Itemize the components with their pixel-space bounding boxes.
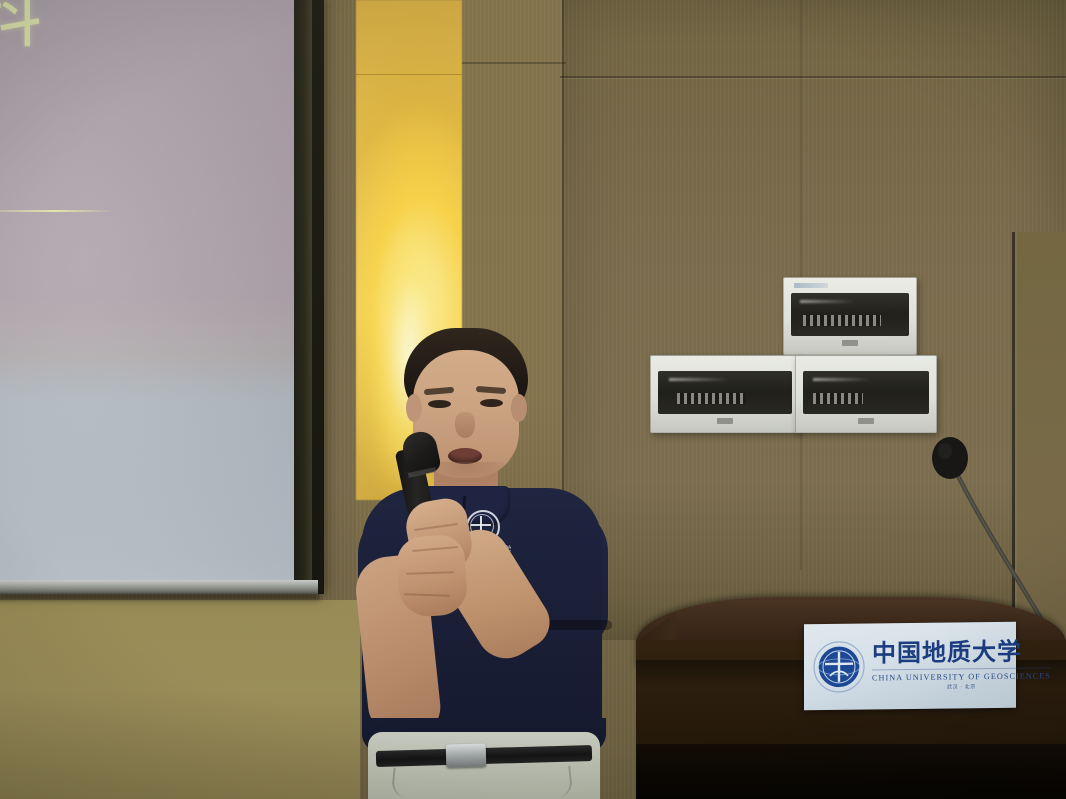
university-name-english: CHINA UNIVERSITY OF GEOSCIENCES xyxy=(872,671,1051,682)
eye-right xyxy=(480,399,503,407)
panel-glare xyxy=(669,378,731,381)
panel-latch xyxy=(858,418,874,424)
emblem-svg xyxy=(812,640,866,695)
ear-right xyxy=(511,394,527,422)
university-emblem-icon xyxy=(812,640,866,695)
eye-left xyxy=(428,400,451,408)
electrical-panel-bottom-right xyxy=(795,355,937,433)
circuit-breakers xyxy=(677,393,747,404)
lectern-base xyxy=(636,744,1066,799)
ear-left xyxy=(406,394,422,422)
panel-latch xyxy=(842,340,858,346)
trouser-pocket-right xyxy=(521,765,574,799)
presenter: 中国地质大学 xyxy=(300,320,630,799)
electrical-panel-top-right xyxy=(783,277,917,355)
circuit-breakers xyxy=(813,393,863,404)
glow-panel-seam xyxy=(356,74,462,75)
panel-glare xyxy=(800,300,854,303)
lecture-hall-photo: 料 xyxy=(0,0,1066,799)
panel-glare xyxy=(813,378,871,381)
electrical-panel-bottom-left xyxy=(650,355,800,433)
slide-underline xyxy=(0,210,114,212)
university-sign: 中国地质大学 CHINA UNIVERSITY OF GEOSCIENCES 武… xyxy=(804,622,1016,711)
belt-buckle xyxy=(446,743,487,767)
nose xyxy=(455,412,475,438)
screen-bottom-shadow xyxy=(0,594,320,600)
screen-vignette xyxy=(0,0,294,580)
panel-window xyxy=(791,293,909,336)
slide-character: 料 xyxy=(0,0,42,52)
screen-bottom-bar xyxy=(0,580,318,594)
circuit-breakers xyxy=(803,315,881,326)
panel-window xyxy=(658,371,792,414)
panel-window xyxy=(803,371,929,414)
university-sign-text: 中国地质大学 CHINA UNIVERSITY OF GEOSCIENCES 武… xyxy=(872,640,1051,691)
wall-seam-horizontal xyxy=(560,76,1066,78)
projection-screen-surface: 料 xyxy=(0,0,294,580)
sign-divider xyxy=(872,667,1051,670)
panel-label-sticker xyxy=(794,283,828,288)
university-name-chinese: 中国地质大学 xyxy=(872,640,1051,667)
trouser-pocket-left xyxy=(391,768,442,799)
projection-screen-frame: 料 xyxy=(0,0,324,594)
panel-latch xyxy=(717,418,733,424)
